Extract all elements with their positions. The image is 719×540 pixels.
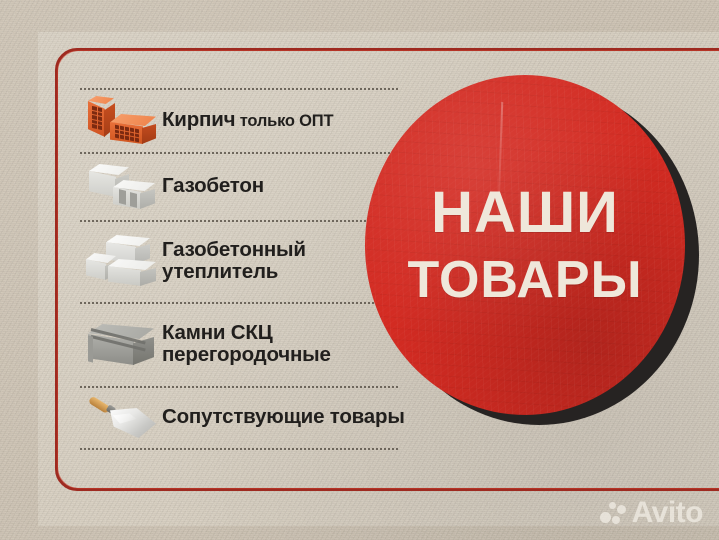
avito-wordmark: Avito — [632, 498, 703, 528]
icon-cell — [80, 88, 162, 152]
poster-canvas: Кирпич только ОПТ Газобетон — [0, 0, 719, 540]
dashed-separator — [80, 448, 398, 450]
list-item-label: Кирпич только ОПТ — [162, 109, 333, 131]
list-item-label-line2: утеплитель — [162, 261, 306, 283]
insulation-block-front — [108, 259, 156, 287]
list-item-label-line2: перегородочные — [162, 344, 331, 366]
dashed-separator — [80, 152, 398, 154]
list-item-label-suffix: только ОПТ — [235, 112, 333, 130]
concrete-partition-stone-icon — [84, 318, 158, 370]
stamp-circle: НАШИ ТОВАРЫ — [365, 75, 685, 415]
dashed-separator — [80, 88, 398, 90]
dashed-separator — [80, 386, 398, 388]
aerated-concrete-insulation-icon — [84, 233, 158, 289]
list-item-label-main: Газобетон — [162, 174, 264, 197]
stamp-texture — [365, 75, 685, 415]
icon-cell — [80, 302, 162, 386]
stamp-title-line1: НАШИ — [431, 184, 619, 242]
avito-watermark: Avito — [600, 498, 703, 528]
trowel-icon — [84, 392, 158, 442]
list-item-label-main: Газобетонный — [162, 239, 306, 261]
brick-lying — [110, 114, 156, 146]
icon-cell — [80, 386, 162, 448]
list-item-label: Газобетон — [162, 175, 264, 197]
block-front-slotted — [113, 180, 155, 210]
stamp-title-line2: ТОВАРЫ — [407, 254, 642, 306]
stamp-badge: НАШИ ТОВАРЫ — [365, 75, 705, 425]
avito-logo-icon — [600, 501, 626, 525]
list-item-label-main: Кирпич — [162, 108, 235, 131]
orange-brick-icon — [86, 94, 156, 146]
partition-stone — [88, 324, 154, 366]
list-bottom-separator-row — [80, 448, 460, 449]
dashed-separator — [80, 220, 398, 222]
icon-cell — [80, 152, 162, 220]
list-item-label: Газобетонный утеплитель — [162, 239, 306, 283]
icon-cell — [80, 220, 162, 302]
list-item-label: Камни СКЦ перегородочные — [162, 322, 331, 366]
aerated-concrete-block-icon — [85, 160, 157, 212]
list-item-label-main: Камни СКЦ — [162, 322, 331, 344]
dashed-separator — [80, 302, 398, 304]
